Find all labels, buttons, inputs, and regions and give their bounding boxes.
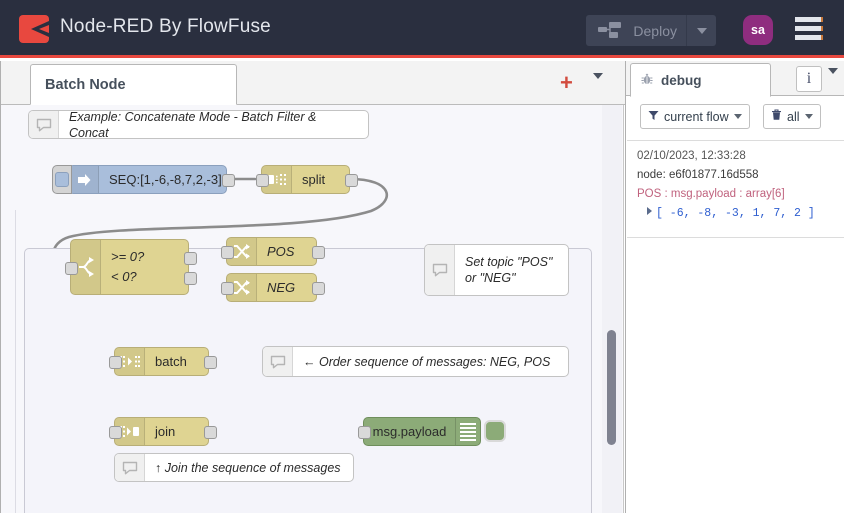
output-port-1[interactable] bbox=[184, 252, 197, 265]
filter-icon bbox=[648, 110, 659, 124]
debug-bars-icon bbox=[460, 423, 476, 441]
expand-triangle-icon[interactable] bbox=[647, 207, 652, 215]
sidebar-info-button[interactable]: i bbox=[796, 66, 822, 92]
inject-trigger-button[interactable] bbox=[52, 165, 72, 194]
avatar[interactable]: sa bbox=[743, 15, 773, 45]
tab-batch-node[interactable]: Batch Node bbox=[30, 64, 237, 105]
output-port[interactable] bbox=[312, 246, 325, 259]
switch-rule-1-label: >= 0? bbox=[111, 247, 144, 267]
change-node-neg[interactable]: NEG bbox=[226, 273, 317, 302]
batch-node[interactable]: batch bbox=[114, 347, 209, 376]
add-flow-button[interactable]: + bbox=[560, 72, 573, 94]
comment-icon bbox=[263, 347, 293, 376]
sidebar-menu-button[interactable] bbox=[828, 74, 838, 92]
debug-clear-label: all bbox=[787, 110, 800, 124]
batch-node-label: batch bbox=[145, 354, 197, 369]
debug-node-label: msg.payload bbox=[364, 424, 455, 439]
flow-canvas[interactable]: Example: Concatenate Mode - Batch Filter… bbox=[1, 105, 624, 513]
comment-node-join[interactable]: ↑ Join the sequence of messages bbox=[114, 453, 354, 482]
input-port[interactable] bbox=[109, 426, 122, 439]
comment-text: ↑ Join the sequence of messages bbox=[145, 460, 351, 476]
input-port[interactable] bbox=[358, 426, 371, 439]
change-node-pos[interactable]: POS bbox=[226, 237, 317, 266]
debug-topic: POS : msg.payload : array[6] bbox=[637, 185, 844, 204]
debug-bug-icon bbox=[455, 418, 480, 445]
output-port[interactable] bbox=[312, 282, 325, 295]
change-node-pos-label: POS bbox=[257, 244, 304, 259]
input-port[interactable] bbox=[65, 262, 78, 275]
inject-arrow-icon bbox=[69, 166, 99, 193]
chevron-down-icon bbox=[805, 114, 813, 119]
inject-node-label: SEQ:[1,-6,-8,7,2,-3] bbox=[99, 172, 226, 187]
comment-node-order[interactable]: ← Order sequence of messages: NEG, POS bbox=[262, 346, 569, 377]
input-port[interactable] bbox=[221, 246, 234, 259]
input-port[interactable] bbox=[256, 174, 269, 187]
comment-line-1: Set topic "POS" bbox=[465, 254, 552, 270]
page-title: Node-RED By FlowFuse bbox=[60, 16, 271, 38]
inject-node[interactable]: SEQ:[1,-6,-8,7,2,-3] bbox=[68, 165, 227, 194]
hamburger-bar bbox=[795, 17, 823, 22]
debug-clear-button[interactable]: all bbox=[763, 104, 821, 129]
output-port[interactable] bbox=[204, 426, 217, 439]
chevron-down-icon bbox=[828, 68, 838, 91]
comment-icon bbox=[115, 454, 145, 481]
chevron-down-icon bbox=[697, 28, 707, 34]
comment-icon bbox=[425, 245, 455, 295]
canvas-scrollbar-track[interactable] bbox=[602, 105, 622, 513]
input-port[interactable] bbox=[109, 356, 122, 369]
app-header: Node-RED By FlowFuse Deploy sa bbox=[0, 0, 844, 58]
hamburger-bar bbox=[795, 26, 823, 31]
debug-payload-value: [ -6, -8, -3, 1, 7, 2 ] bbox=[656, 207, 815, 220]
debug-payload[interactable]: [ -6, -8, -3, 1, 7, 2 ] bbox=[637, 204, 844, 223]
input-port[interactable] bbox=[221, 282, 234, 295]
comment-text: Set topic "POS" or "NEG" bbox=[455, 254, 562, 286]
canvas-scrollbar-thumb[interactable] bbox=[607, 330, 616, 445]
split-node[interactable]: split bbox=[261, 165, 350, 194]
canvas-left-guide bbox=[15, 210, 16, 513]
deploy-dropdown-button[interactable] bbox=[686, 15, 716, 46]
debug-filter-label: current flow bbox=[664, 110, 729, 124]
tab-debug-label: debug bbox=[661, 73, 702, 88]
join-node[interactable]: join bbox=[114, 417, 209, 446]
comment-node-set-topic[interactable]: Set topic "POS" or "NEG" bbox=[424, 244, 569, 296]
flow-list-dropdown-button[interactable] bbox=[593, 79, 603, 97]
comment-line-2: or "NEG" bbox=[465, 270, 552, 286]
debug-timestamp: 02/10/2023, 12:33:28 bbox=[637, 147, 844, 166]
split-node-label: split bbox=[292, 172, 335, 187]
debug-sidebar: debug i current flow all 02/10/20 bbox=[625, 61, 844, 513]
change-node-neg-label: NEG bbox=[257, 280, 305, 295]
deploy-icon bbox=[598, 22, 622, 38]
comment-icon bbox=[29, 111, 59, 138]
comment-node-example[interactable]: Example: Concatenate Mode - Batch Filter… bbox=[28, 110, 369, 139]
debug-enable-toggle[interactable] bbox=[484, 420, 506, 442]
debug-message[interactable]: 02/10/2023, 12:33:28 node: e6f01877.16d5… bbox=[627, 140, 844, 238]
switch-rule-2-label: < 0? bbox=[111, 267, 144, 287]
node-red-logo-icon bbox=[18, 14, 50, 44]
chevron-down-icon bbox=[593, 73, 603, 96]
chevron-down-icon bbox=[734, 114, 742, 119]
debug-node-id: node: e6f01877.16d558 bbox=[637, 166, 844, 185]
hamburger-bar bbox=[795, 35, 823, 40]
output-port[interactable] bbox=[345, 174, 358, 187]
join-node-label: join bbox=[145, 424, 185, 439]
debug-node[interactable]: msg.payload bbox=[363, 417, 481, 446]
comment-text: ← Order sequence of messages: NEG, POS bbox=[293, 354, 560, 370]
output-port-2[interactable] bbox=[184, 272, 197, 285]
debug-filter-button[interactable]: current flow bbox=[640, 104, 750, 129]
bug-icon bbox=[640, 72, 654, 89]
node-red-editor: Node-RED By FlowFuse Deploy sa Batch Nod… bbox=[0, 0, 844, 513]
output-port[interactable] bbox=[222, 174, 235, 187]
tab-debug[interactable]: debug bbox=[630, 63, 771, 97]
comment-text: Example: Concatenate Mode - Batch Filter… bbox=[59, 109, 368, 141]
main-menu-button[interactable] bbox=[795, 17, 823, 42]
output-port[interactable] bbox=[204, 356, 217, 369]
switch-node[interactable]: >= 0? < 0? bbox=[70, 239, 189, 295]
trash-icon bbox=[771, 109, 782, 124]
